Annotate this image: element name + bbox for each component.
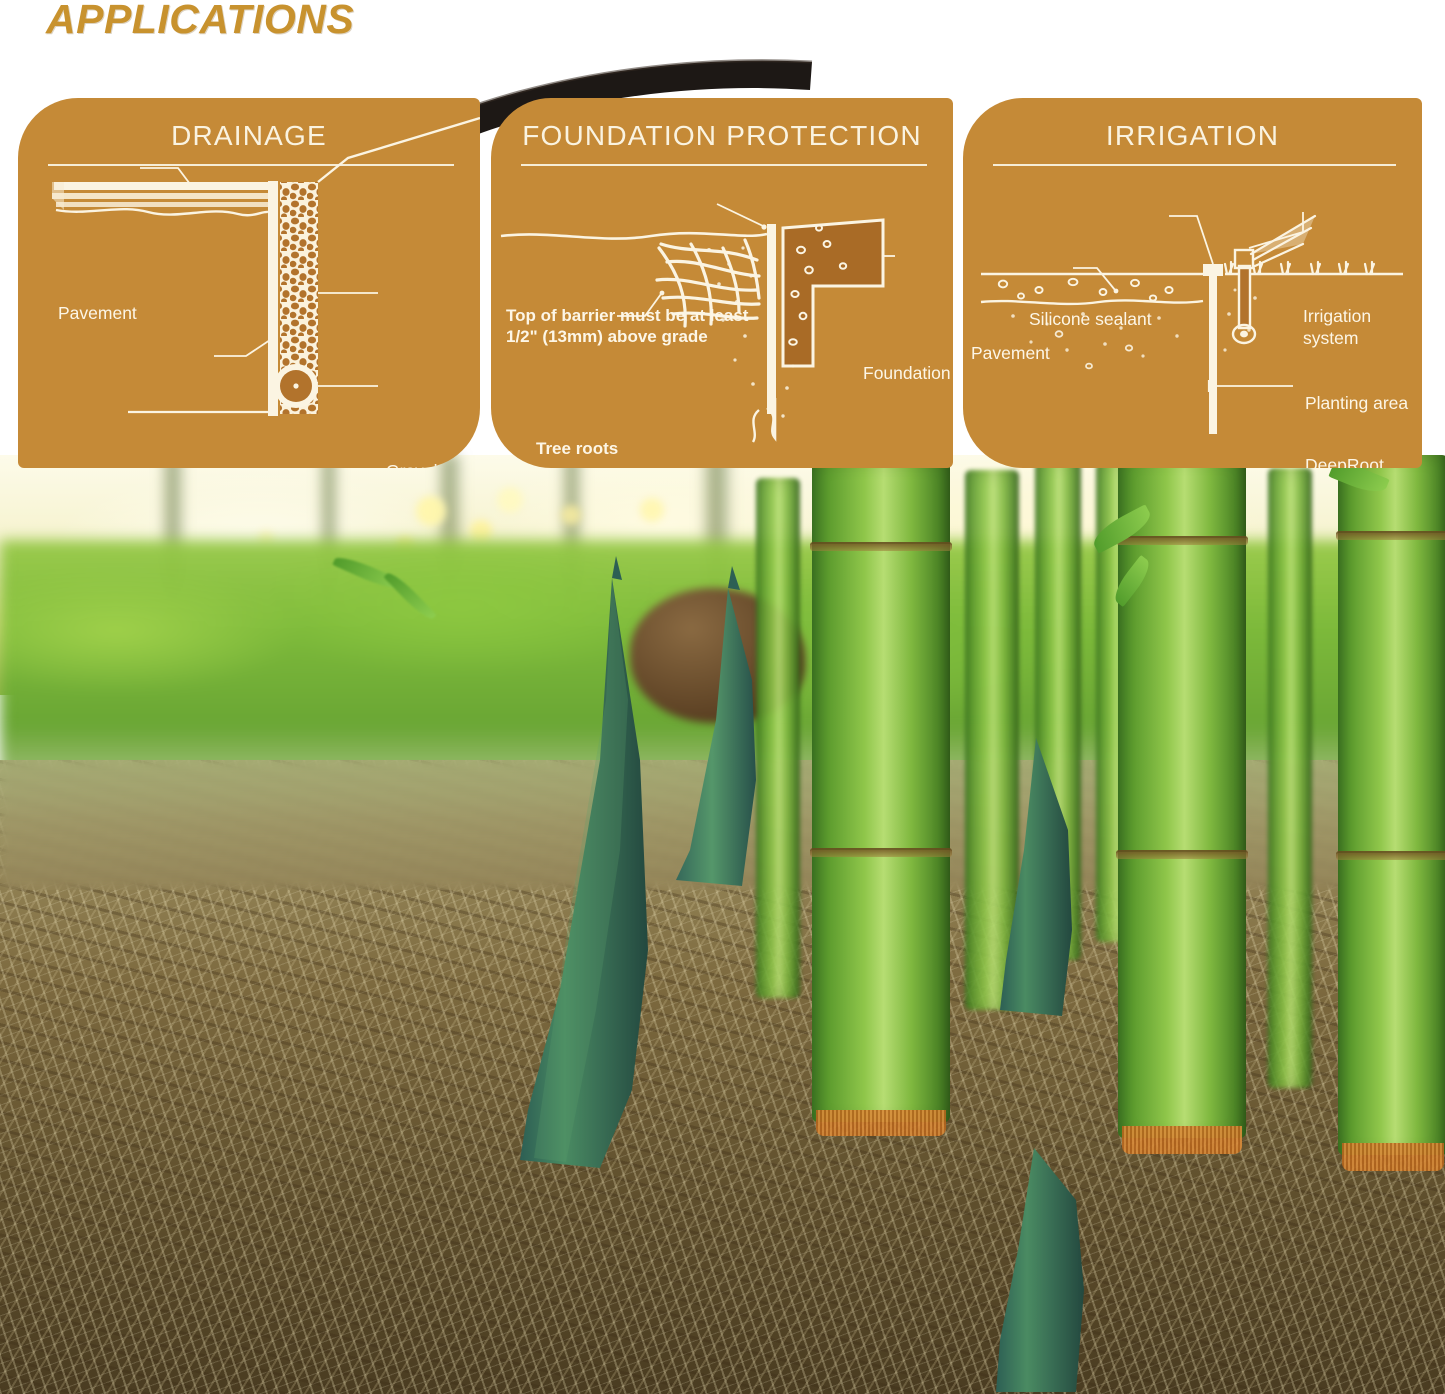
panel-irrigation: IRRIGATION	[963, 98, 1422, 468]
page-title: APPLICATIONS	[46, 0, 354, 43]
panel-foundation-diagram: Top of barrier must be at least 1/2" (13…	[491, 98, 953, 468]
panel-drainage: DRAINAGE	[18, 98, 480, 468]
label-pavement: Pavement	[971, 343, 1050, 365]
label-top-of-barrier: Top of barrier must be at least 1/2" (13…	[506, 305, 748, 348]
panel-irrigation-diagram: Silicone sealant Irrigation system Pavem…	[963, 98, 1422, 468]
label-irrigation-system: Irrigation system	[1303, 306, 1422, 350]
label-foundation: Foundation	[863, 363, 951, 385]
label-pavement: Pavement	[58, 303, 137, 325]
label-gravel: Gravel	[386, 461, 438, 468]
label-silicone-sealant: Silicone sealant	[1029, 309, 1152, 331]
bamboo-shoot	[996, 1148, 1084, 1392]
label-tree-roots: Tree roots	[536, 438, 618, 459]
label-planting-area: Planting area	[1305, 393, 1408, 415]
panel-foundation: FOUNDATION PROTECTION	[491, 98, 953, 468]
page-root: APPLICATIONS DRAINAGE	[0, 0, 1445, 1394]
bamboo-shoot	[1000, 738, 1072, 1016]
bamboo-shoot	[676, 588, 756, 886]
label-deeproot-water-barrier: DeepRoot Water Barrier	[1305, 455, 1408, 468]
panel-drainage-diagram: Pavement DeepRoot Water Barrier Gravel D…	[18, 98, 480, 468]
